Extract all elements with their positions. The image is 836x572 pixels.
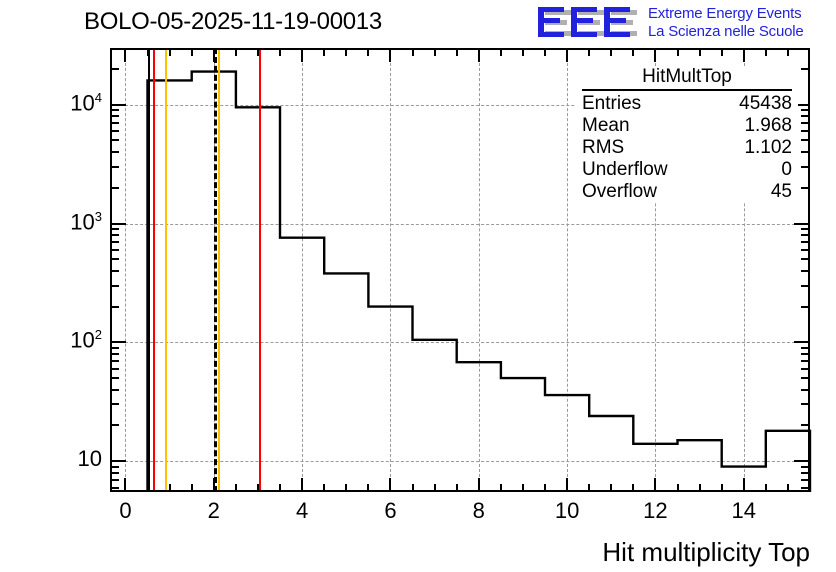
histogram-page: BOLO-05-2025-11-19-00013 [0,0,836,572]
stats-row-label: RMS [582,137,624,159]
stats-row-label: Underflow [582,159,668,181]
y-tick-label: 103 [32,209,102,235]
x-tick-label: 0 [95,498,155,524]
stats-row-value: 1.968 [744,115,792,137]
stats-row-value: 45438 [739,93,792,115]
stats-rows: Entries45438Mean1.968RMS1.102Underflow0O… [576,93,798,203]
x-tick-label: 4 [272,498,332,524]
eee-logo-text: Extreme Energy Events La Scienza nelle S… [648,5,804,41]
y-tick-label: 102 [32,327,102,353]
x-tick-label: 10 [537,498,597,524]
eee-letters-icon [536,6,640,42]
eee-logo: Extreme Energy Events La Scienza nelle S… [532,4,828,44]
stats-row: Underflow0 [576,159,798,181]
eee-logo-mark [536,6,640,42]
page-title: BOLO-05-2025-11-19-00013 [84,8,382,36]
stats-row: Overflow45 [576,181,798,203]
stats-row-value: 0 [781,159,792,181]
x-tick-label: 6 [360,498,420,524]
stats-row-label: Entries [582,93,641,115]
y-tick-label: 10 [32,446,102,472]
stats-row-label: Overflow [582,181,657,203]
stats-row-label: Mean [582,115,630,137]
stats-divider [582,89,792,91]
eee-logo-line1: Extreme Energy Events [648,5,804,23]
stats-row-value: 45 [771,181,792,203]
x-axis-title: Hit multiplicity Top [602,537,810,568]
y-tick-label: 104 [32,90,102,116]
stats-row: Entries45438 [576,93,798,115]
x-tick-label: 12 [625,498,685,524]
x-tick-label: 14 [714,498,774,524]
eee-logo-line2: La Scienza nelle Scuole [648,23,804,41]
stats-row: Mean1.968 [576,115,798,137]
stats-row: RMS1.102 [576,137,798,159]
stats-title: HitMultTop [576,66,798,89]
stats-row-value: 1.102 [744,137,792,159]
x-tick-label: 8 [449,498,509,524]
stats-box: HitMultTop Entries45438Mean1.968RMS1.102… [576,66,798,203]
x-tick-label: 2 [184,498,244,524]
